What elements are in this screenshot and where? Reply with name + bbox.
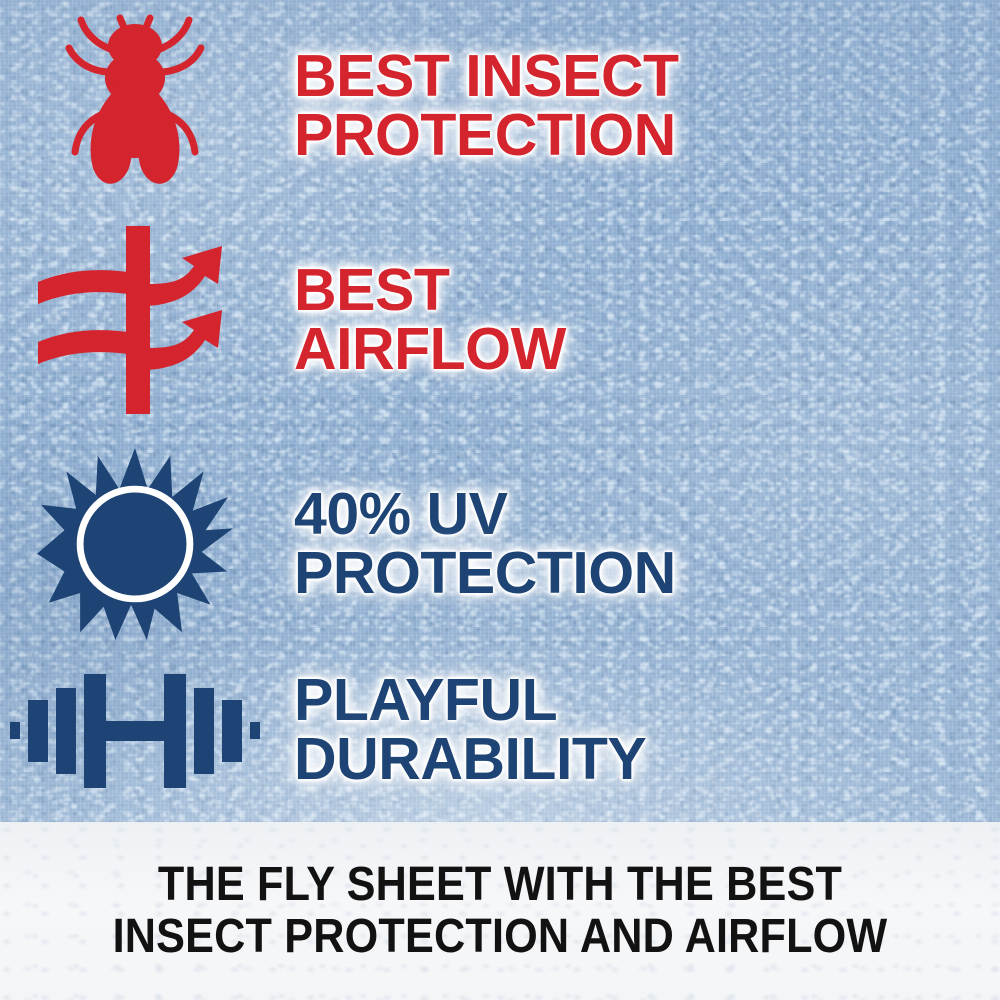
feature-row-uv-protection: 40% UV PROTECTION: [0, 440, 1000, 648]
caption-headline: THE FLY SHEET WITH THE BEST INSECT PROTE…: [50, 859, 950, 963]
feature-list: BEST INSECT PROTECTION: [0, 0, 1000, 822]
feature-icon-cell: [0, 662, 270, 798]
feature-text-cell: BEST INSECT PROTECTION: [270, 47, 1000, 165]
caption-bar: THE FLY SHEET WITH THE BEST INSECT PROTE…: [0, 822, 1000, 1000]
feature-text-cell: PLAYFUL DURABILITY: [270, 671, 1000, 789]
feature-icon-cell: [0, 446, 270, 642]
dumbbell-icon: [8, 662, 262, 798]
feature-text-cell: BEST AIRFLOW: [270, 261, 1000, 379]
feature-label-uv-protection: 40% UV PROTECTION: [294, 485, 1000, 603]
feature-row-durability: PLAYFUL DURABILITY: [0, 648, 1000, 812]
airflow-through-barrier-icon: [32, 222, 238, 418]
sun-uv-icon: [37, 446, 233, 642]
feature-label-durability: PLAYFUL DURABILITY: [294, 671, 1000, 789]
feature-label-airflow: BEST AIRFLOW: [294, 261, 1000, 379]
feature-text-cell: 40% UV PROTECTION: [270, 485, 1000, 603]
feature-icon-cell: [0, 222, 270, 418]
product-feature-infographic: BEST INSECT PROTECTION: [0, 0, 1000, 1000]
housefly-icon: [51, 10, 219, 202]
feature-row-insect-protection: BEST INSECT PROTECTION: [0, 8, 1000, 204]
feature-label-insect-protection: BEST INSECT PROTECTION: [294, 47, 1000, 165]
feature-icon-cell: [0, 10, 270, 202]
feature-row-airflow: BEST AIRFLOW: [0, 220, 1000, 420]
